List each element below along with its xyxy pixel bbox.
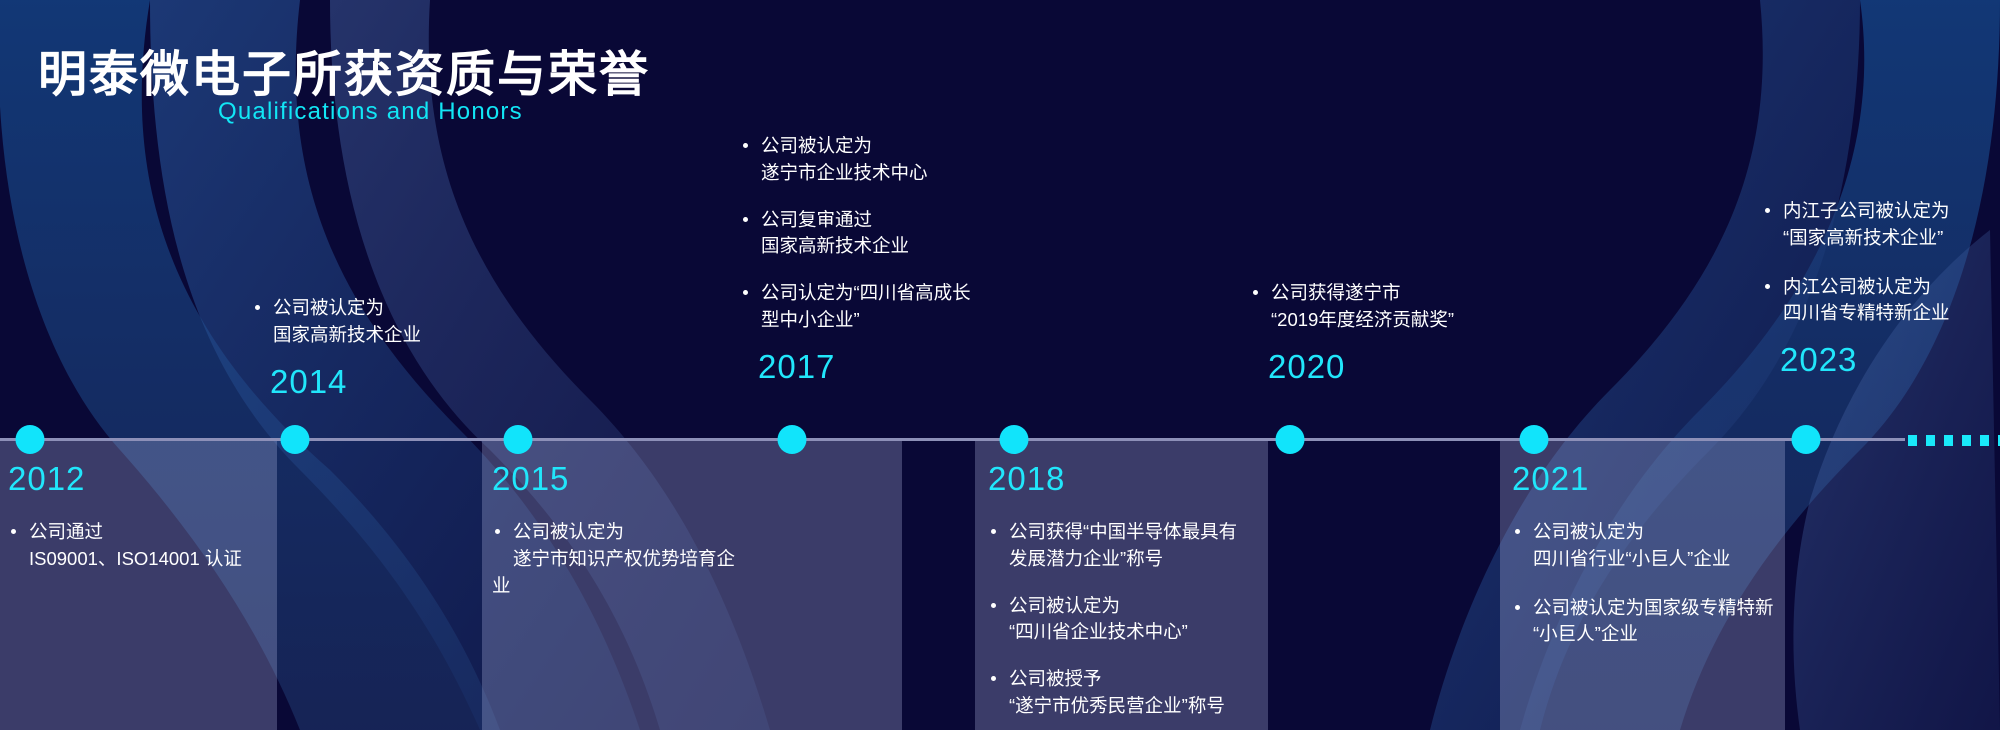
event-bullets-2015: 公司被认定为 遂宁市知识产权优势培育企 业 [492,519,735,599]
event-bullets-2021: 公司被认定为 四川省行业“小巨人”企业 公司被认定为国家级专精特新 “小巨人”企… [1512,519,1774,648]
list-item: 公司被认定为国家级专精特新 “小巨人”企业 [1512,595,1774,649]
list-item: 内江公司被认定为 四川省专精特新企业 [1762,274,1950,328]
list-item: 公司复审通过 国家高新技术企业 [740,207,971,261]
list-item: 公司获得“中国半导体最具有 发展潜力企业”称号 [988,519,1237,573]
page-subtitle: Qualifications and Honors [218,98,523,126]
timeline-node-2012[interactable] [16,425,45,454]
timeline-axis-dashes [1908,435,2000,446]
list-item: 公司通过 IS09001、ISO14001 认证 [8,519,242,573]
event-bullets-2020: 公司获得遂宁市 “2019年度经济贡献奖” [1250,280,1454,334]
timeline-node-2021[interactable] [1520,425,1549,454]
event-year-2018: 2018 [988,462,1237,495]
event-2023: 内江子公司被认定为 “国家高新技术企业” 内江公司被认定为 四川省专精特新企业 … [1762,198,1950,376]
event-year-2014: 2014 [270,365,421,398]
event-year-2015: 2015 [492,462,735,495]
list-item: 公司被认定为 遂宁市知识产权优势培育企 业 [492,519,735,599]
page-title: 明泰微电子所获资质与荣誉 [38,35,650,106]
timeline-node-2014[interactable] [281,425,310,454]
event-bullets-2012: 公司通过 IS09001、ISO14001 认证 [8,519,242,573]
event-2020: 公司获得遂宁市 “2019年度经济贡献奖” 2020 [1250,280,1454,383]
event-year-2020: 2020 [1268,350,1454,383]
list-item: 公司被认定为 国家高新技术企业 [252,295,421,349]
event-bullets-2014: 公司被认定为 国家高新技术企业 [252,295,421,349]
event-year-2012: 2012 [8,462,242,495]
slide-root: 明泰微电子所获资质与荣誉 Qualifications and Honors 2… [0,0,2000,730]
event-2021: 2021 公司被认定为 四川省行业“小巨人”企业 公司被认定为国家级专精特新 “… [1512,462,1774,648]
event-2015: 2015 公司被认定为 遂宁市知识产权优势培育企 业 [492,462,735,599]
event-2017: 公司被认定为 遂宁市企业技术中心 公司复审通过 国家高新技术企业 公司认定为“四… [740,133,971,383]
event-bullets-2018: 公司获得“中国半导体最具有 发展潜力企业”称号 公司被认定为 “四川省企业技术中… [988,519,1237,720]
list-item: 公司被授予 “遂宁市优秀民营企业”称号 [988,666,1237,720]
list-item: 公司获得遂宁市 “2019年度经济贡献奖” [1250,280,1454,334]
timeline-node-2018[interactable] [1000,425,1029,454]
timeline-node-2020[interactable] [1276,425,1305,454]
event-bullets-2023: 内江子公司被认定为 “国家高新技术企业” 内江公司被认定为 四川省专精特新企业 [1762,198,1950,327]
event-year-2017: 2017 [758,350,971,383]
event-bullets-2017: 公司被认定为 遂宁市企业技术中心 公司复审通过 国家高新技术企业 公司认定为“四… [740,133,971,334]
timeline-node-2017[interactable] [778,425,807,454]
list-item: 公司认定为“四川省高成长 型中小企业” [740,280,971,334]
list-item: 内江子公司被认定为 “国家高新技术企业” [1762,198,1950,252]
list-item: 公司被认定为 四川省行业“小巨人”企业 [1512,519,1774,573]
event-2012: 2012 公司通过 IS09001、ISO14001 认证 [8,462,242,573]
event-year-2021: 2021 [1512,462,1774,495]
timeline-node-2015[interactable] [504,425,533,454]
event-2018: 2018 公司获得“中国半导体最具有 发展潜力企业”称号 公司被认定为 “四川省… [988,462,1237,720]
list-item: 公司被认定为 遂宁市企业技术中心 [740,133,971,187]
timeline-node-2023[interactable] [1792,425,1821,454]
event-2014: 公司被认定为 国家高新技术企业 2014 [252,295,421,398]
list-item: 公司被认定为 “四川省企业技术中心” [988,593,1237,647]
event-year-2023: 2023 [1780,343,1950,376]
